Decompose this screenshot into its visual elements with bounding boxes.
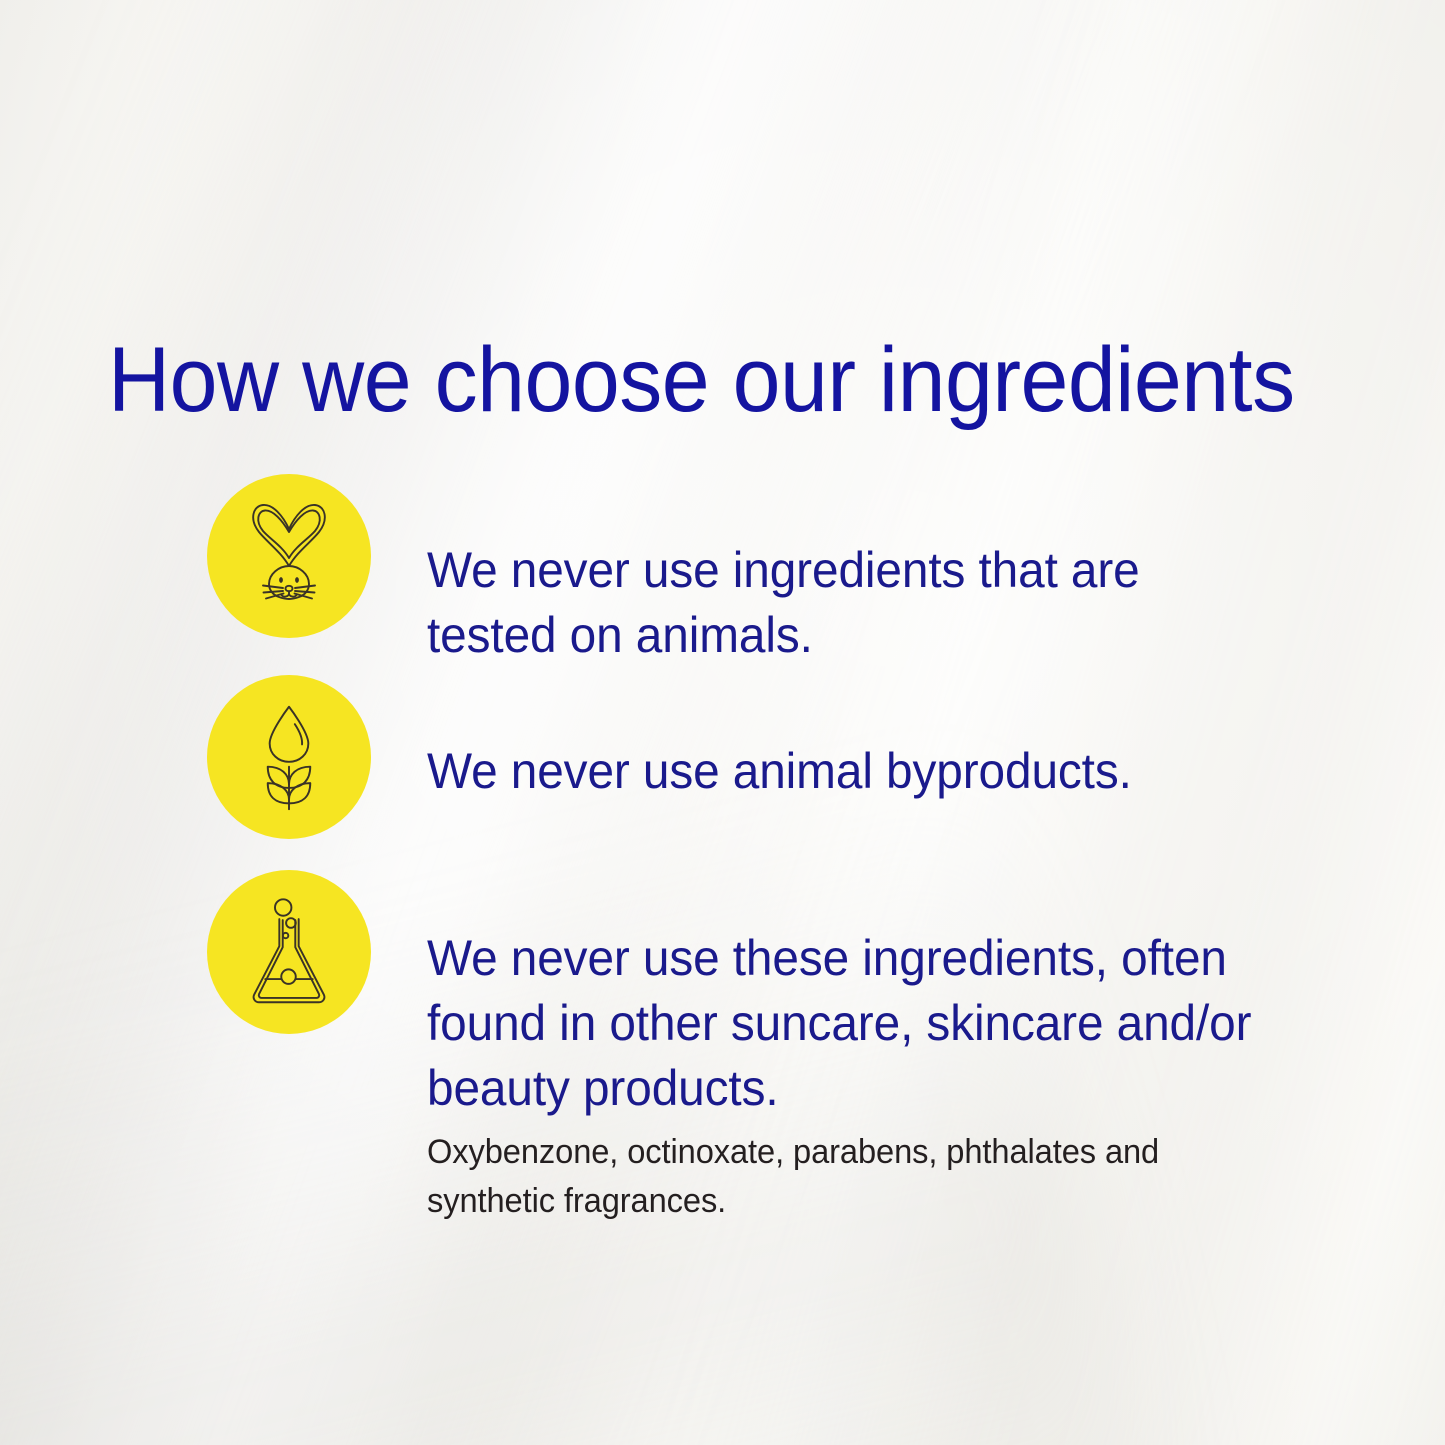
list-item-caption: Oxybenzone, octinoxate, parabens, phthal… [427,1128,1195,1227]
ingredients-infographic: How we choose our ingredients [0,0,1445,1445]
bunny-heart-ears-icon [207,474,371,638]
list-item-text: We never use ingredients that are tested… [427,538,1267,668]
list-item-text: We never use these ingredients, often fo… [427,926,1267,1121]
content-layer: How we choose our ingredients [0,0,1445,1445]
page-title: How we choose our ingredients [108,334,1286,426]
list-item-text: We never use animal byproducts. [427,739,1267,804]
erlenmeyer-flask-icon [207,870,371,1034]
droplet-plant-icon [207,675,371,839]
